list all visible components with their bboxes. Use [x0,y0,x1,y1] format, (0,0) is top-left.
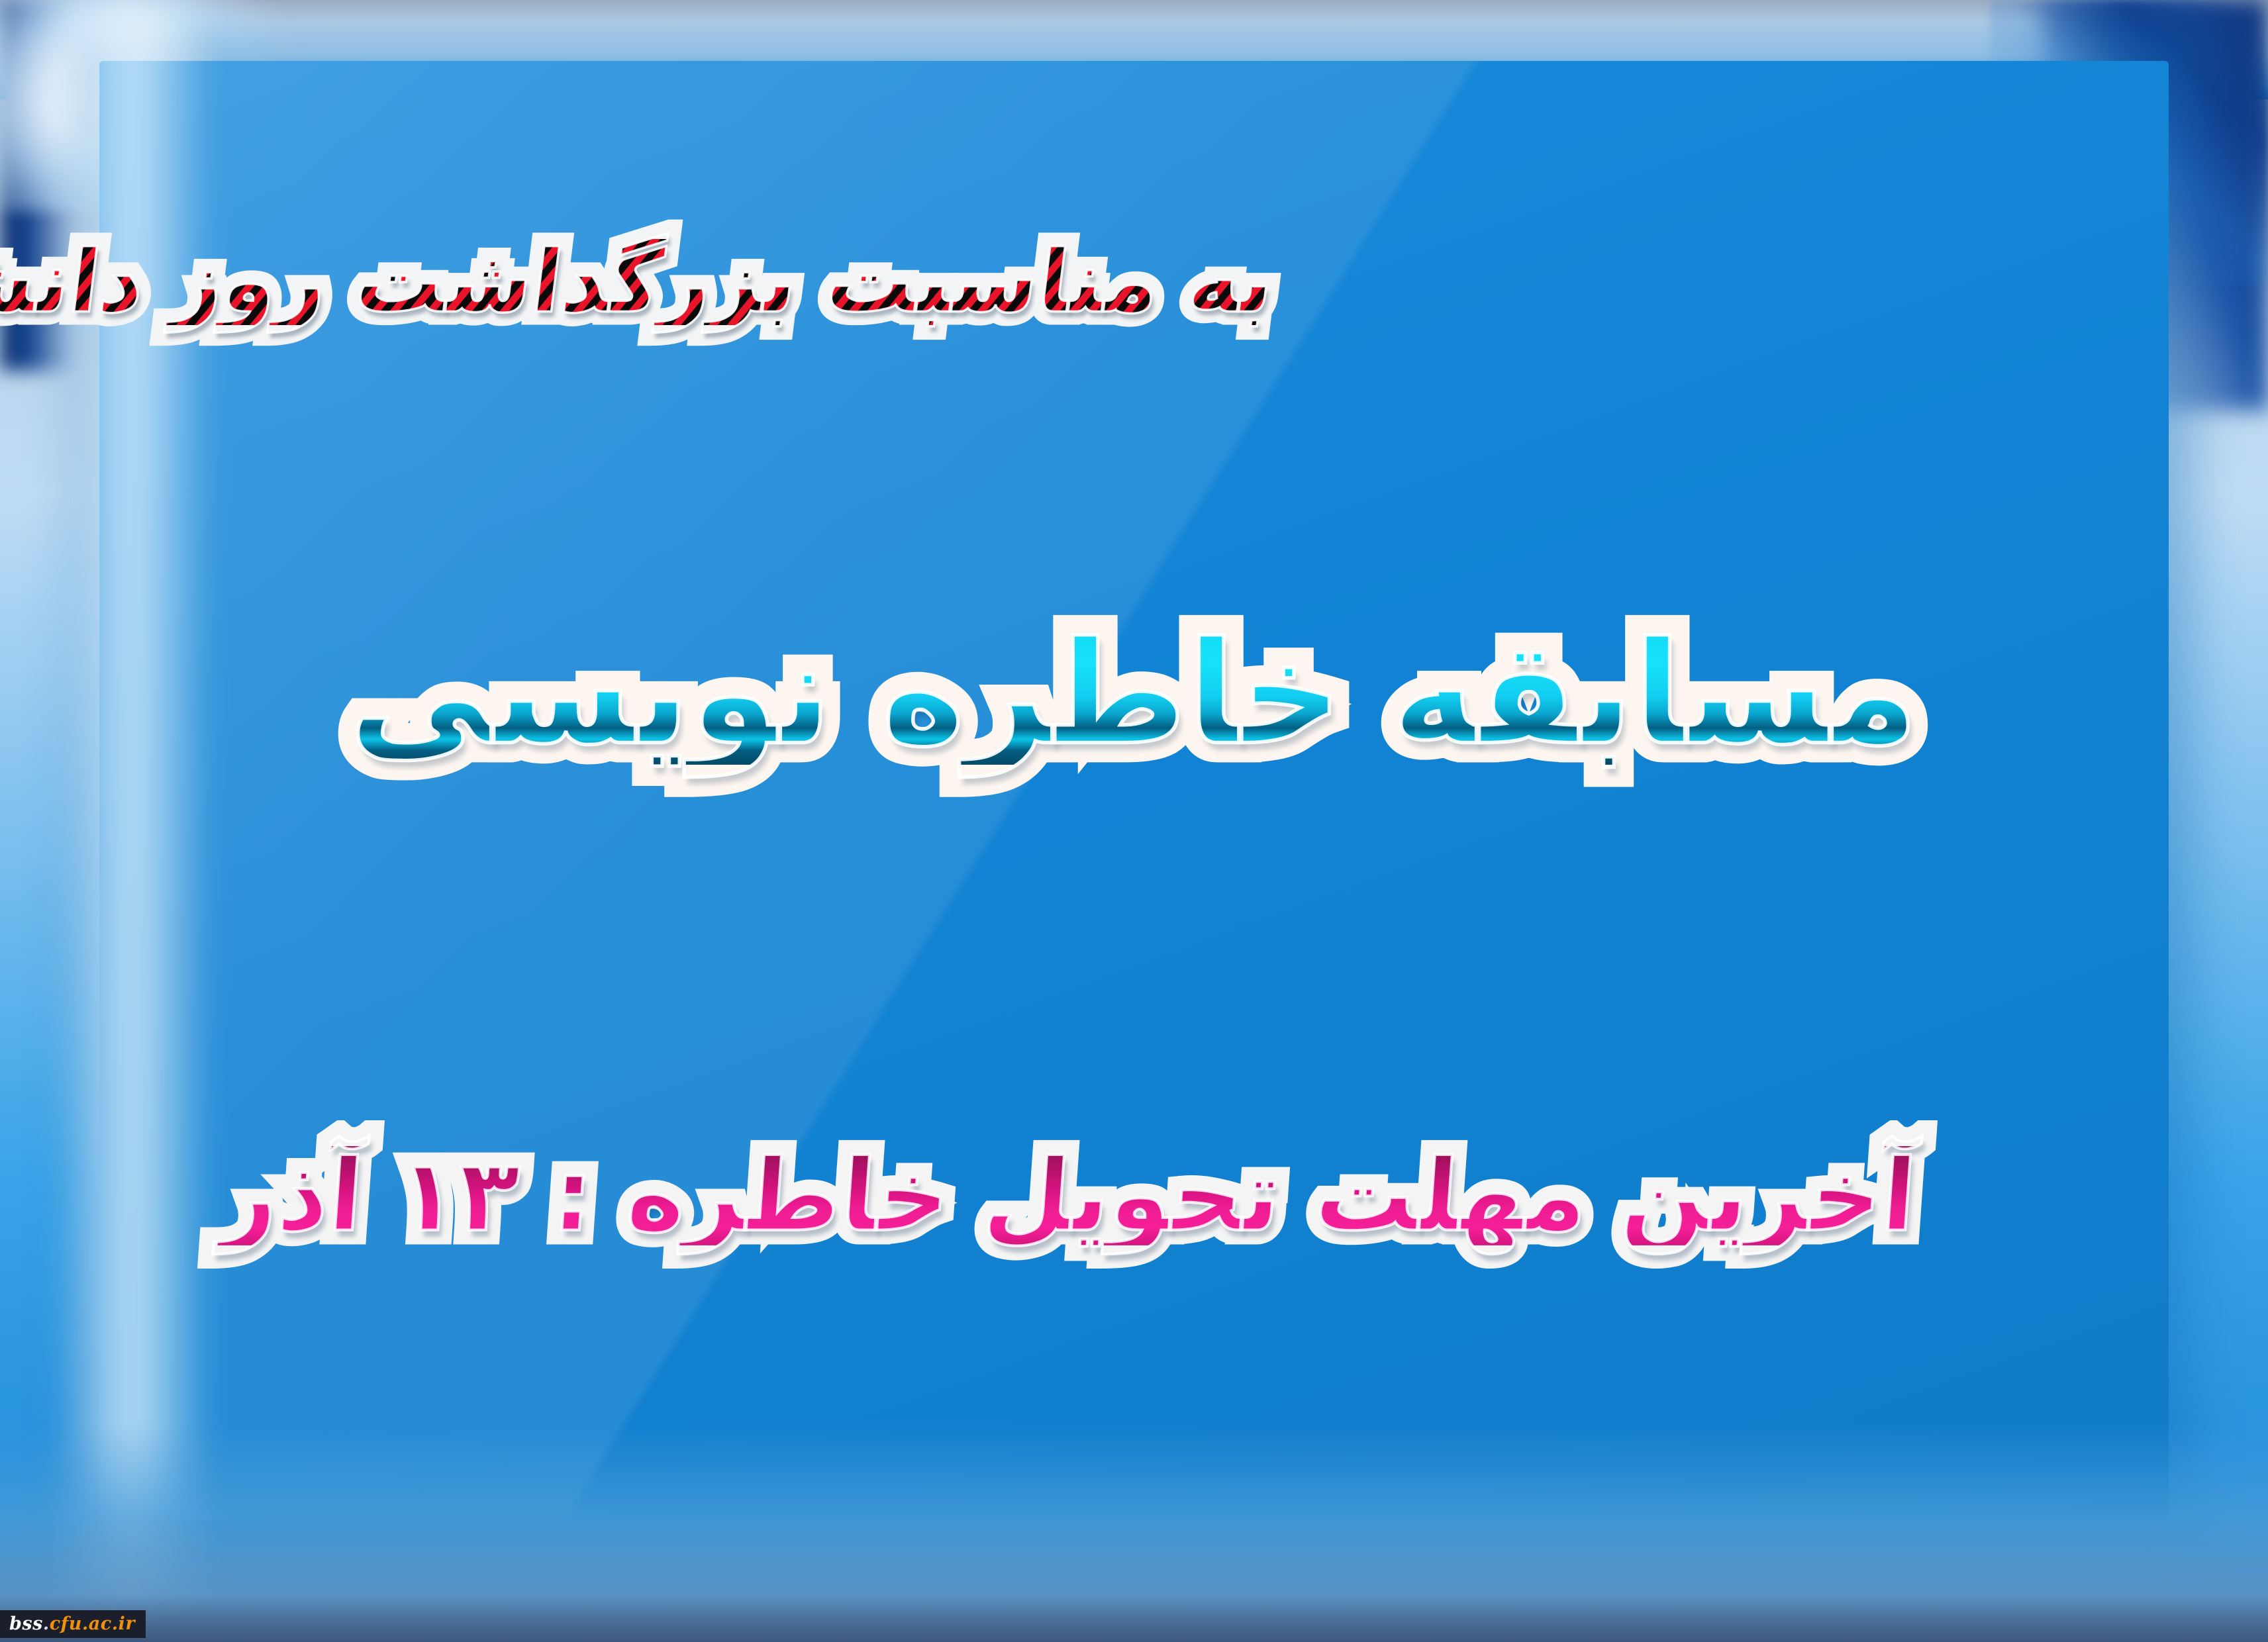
headline-event-title-edge: مسابقه خاطره نویسی [350,623,1919,765]
headline-deadline-layers: آخرین مهلت تحویل خاطره : ۱۳ آذر آخرین مه… [217,1146,1919,1245]
headline-occasion-edge: به مناسبت بزرگداشت روز دانشجو برگزار می … [0,239,1279,325]
headline-occasion: به مناسبت بزرگداشت روز دانشجو برگزار می … [0,199,2268,365]
poster-canvas: به مناسبت بزرگداشت روز دانشجو برگزار می … [0,0,2268,1642]
headline-event-title-layers: مسابقه خاطره نویسی مسابقه خاطره نویسی مس… [350,623,1919,765]
headline-stack: به مناسبت بزرگداشت روز دانشجو برگزار می … [0,0,2268,1642]
headline-deadline-edge: آخرین مهلت تحویل خاطره : ۱۳ آذر [217,1146,1919,1245]
watermark-prefix: bss [9,1614,43,1634]
watermark-dot: . [43,1614,50,1634]
headline-event-title: مسابقه خاطره نویسی مسابقه خاطره نویسی مس… [0,616,2268,772]
headline-occasion-layers: به مناسبت بزرگداشت روز دانشجو برگزار می … [0,239,1279,325]
headline-deadline: آخرین مهلت تحویل خاطره : ۱۳ آذر آخرین مه… [0,1126,2268,1266]
watermark-domain: cfu.ac.ir [50,1614,135,1634]
site-watermark[interactable]: bss.cfu.ac.ir [0,1610,146,1638]
